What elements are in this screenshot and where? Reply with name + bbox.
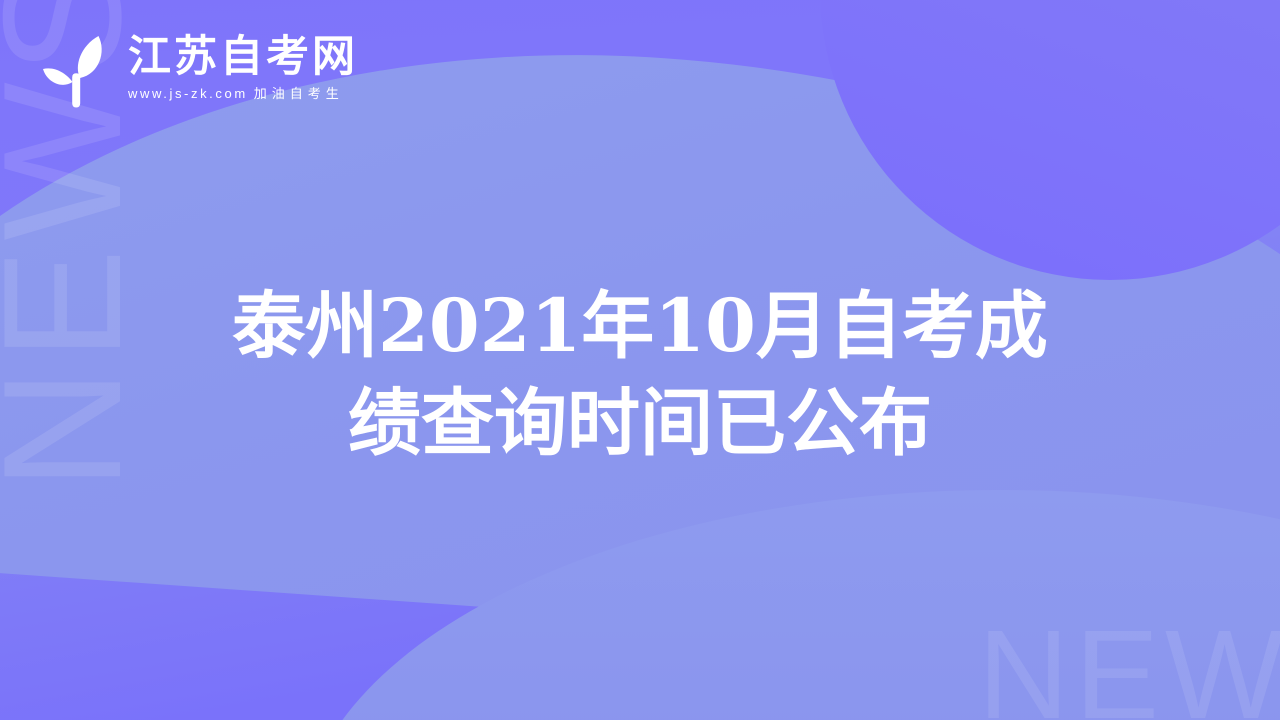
logo-tagline: www.js-zk.com加油自考生 [128, 87, 358, 100]
watermark-news-bottom-right: NEWS [978, 612, 1280, 720]
site-logo[interactable]: 江苏自考网 www.js-zk.com加油自考生 [36, 26, 358, 108]
logo-slogan: 加油自考生 [254, 86, 344, 101]
news-banner: NEWS NEWS 江苏自考网 www.js-zk.com加油自考生 泰州202… [0, 0, 1280, 720]
logo-site-name: 江苏自考网 [128, 34, 358, 80]
sprout-icon [36, 26, 114, 108]
logo-text-group: 江苏自考网 www.js-zk.com加油自考生 [128, 34, 358, 100]
logo-url: www.js-zk.com [128, 86, 248, 101]
page-title: 泰州2021年10月自考成 绩查询时间已公布 [0, 278, 1280, 472]
circle-blob-top-right [820, 0, 1280, 280]
